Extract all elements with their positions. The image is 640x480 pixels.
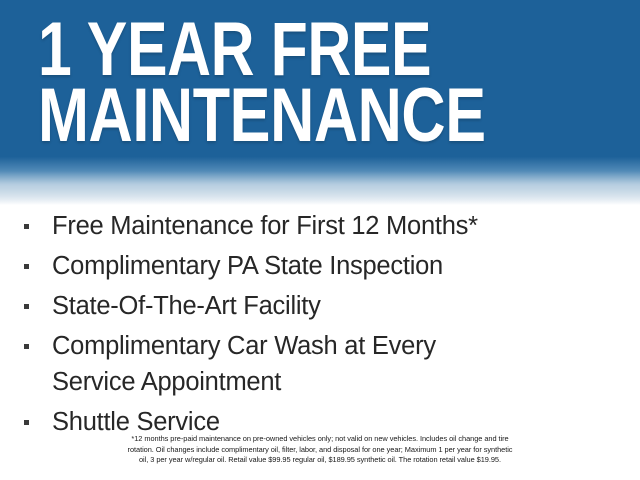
list-item: Complimentary Car Wash at Every Service … <box>0 328 640 400</box>
disclaimer-line-2: rotation. Oil changes include compliment… <box>30 445 610 456</box>
banner-gradient-fade <box>0 150 640 205</box>
square-bullet-icon <box>24 224 29 229</box>
list-item-label: Complimentary Car Wash at Every <box>52 328 640 364</box>
square-bullet-icon <box>24 420 29 425</box>
list-item-label-continued: Service Appointment <box>52 364 640 400</box>
disclaimer-line-3: oil, 3 per year w/regular oil. Retail va… <box>30 455 610 466</box>
disclaimer-text: *12 months pre-paid maintenance on pre-o… <box>30 434 610 466</box>
header-banner: 1 YEAR FREE MAINTENANCE <box>0 0 640 205</box>
headline-block: 1 YEAR FREE MAINTENANCE <box>38 14 622 152</box>
square-bullet-icon <box>24 344 29 349</box>
square-bullet-icon <box>24 264 29 269</box>
list-item-label: Complimentary PA State Inspection <box>52 248 640 284</box>
list-item-label: State-Of-The-Art Facility <box>52 288 640 324</box>
list-item: Complimentary PA State Inspection <box>0 248 640 284</box>
list-item-label: Free Maintenance for First 12 Months* <box>52 208 640 244</box>
list-item: State-Of-The-Art Facility <box>0 288 640 324</box>
headline-line-2: MAINTENANCE <box>38 80 508 152</box>
promotion-card: 1 YEAR FREE MAINTENANCE Free Maintenance… <box>0 0 640 480</box>
square-bullet-icon <box>24 304 29 309</box>
list-item: Free Maintenance for First 12 Months* <box>0 208 640 244</box>
benefits-list: Free Maintenance for First 12 Months* Co… <box>0 208 640 444</box>
disclaimer-line-1: *12 months pre-paid maintenance on pre-o… <box>30 434 610 445</box>
